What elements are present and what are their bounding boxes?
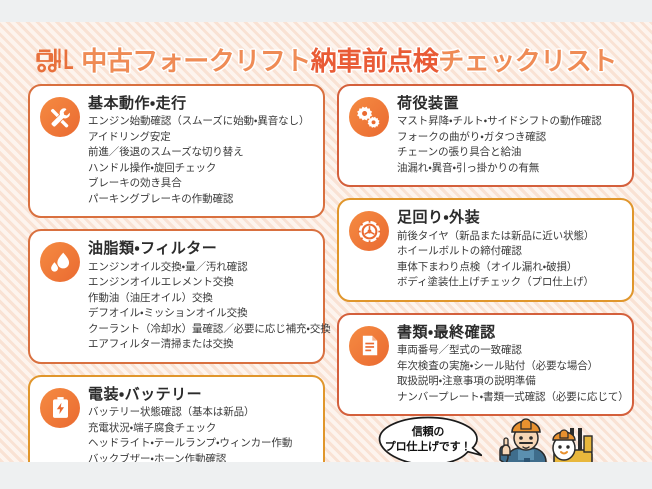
card-documents-final-check[interactable]: 書類・最終確認 車両番号／型式の一致確認 年次検査の実施・シール貼付（必要な場合… bbox=[337, 313, 634, 416]
list-item: バックブザー・ホーン作動確認 bbox=[88, 452, 313, 462]
gears-icon bbox=[349, 97, 389, 137]
title-text: 中古フォークリフト納車前点検チェックリスト bbox=[81, 48, 617, 74]
list-item: 作動油（油圧オイル）交換 bbox=[88, 291, 313, 307]
checklist: バッテリー状態確認（基本は新品） 充電状況・端子腐食チェック ヘッドライト・テー… bbox=[88, 405, 313, 462]
card-heading: 荷役装置 bbox=[397, 95, 622, 112]
list-item: チェーンの張り具合と給油 bbox=[397, 145, 622, 161]
list-item: バッテリー状態確認（基本は新品） bbox=[88, 405, 313, 421]
list-item: クーラント（冷却水）量確認／必要に応じ補充・交換 bbox=[88, 322, 313, 338]
list-item: 油漏れ・異音・引っ掛かりの有無 bbox=[397, 161, 622, 177]
card-body: 電装・バッテリー バッテリー状態確認（基本は新品） 充電状況・端子腐食チェック … bbox=[88, 386, 313, 462]
list-item: エンジンオイル交換・量／汚れ確認 bbox=[88, 260, 313, 276]
card-heading: 基本動作・走行 bbox=[88, 95, 313, 112]
card-body: 足回り・外装 前後タイヤ（新品または新品に近い状態） ホイールボルトの締付確認 … bbox=[397, 209, 622, 290]
card-basic-operation[interactable]: 基本動作・走行 エンジン始動確認（スムーズに始動・異音なし） アイドリング安定 … bbox=[28, 84, 325, 218]
list-item: アイドリング安定 bbox=[88, 130, 313, 146]
forklift-icon bbox=[35, 46, 73, 76]
list-item: ブレーキの効き具合 bbox=[88, 176, 313, 192]
tire-icon bbox=[349, 211, 389, 251]
worker-thumbs-up-with-forklift-icon bbox=[488, 414, 608, 462]
card-fluids-filters[interactable]: 油脂類・フィルター エンジンオイル交換・量／汚れ確認 エンジンオイルエレメント交… bbox=[28, 229, 325, 363]
list-item: ヘッドライト・テールランプ・ウィンカー作動 bbox=[88, 436, 313, 452]
list-item: 充電状況・端子腐食チェック bbox=[88, 421, 313, 437]
list-item: 車両番号／型式の一致確認 bbox=[397, 343, 622, 359]
footer-scene: 信頼の プロ仕上げです！ bbox=[378, 414, 628, 462]
card-load-handling[interactable]: 荷役装置 マスト昇降・チルト・サイドシフトの動作確認 フォークの曲がり・ガタつき… bbox=[337, 84, 634, 187]
card-body: 書類・最終確認 車両番号／型式の一致確認 年次検査の実施・シール貼付（必要な場合… bbox=[397, 324, 622, 405]
speech-bubble-text: 信頼の プロ仕上げです！ bbox=[378, 425, 478, 455]
title-part-strong: 納車前点検 bbox=[311, 46, 439, 76]
title-part-2: チェックリスト bbox=[438, 46, 617, 76]
document-icon bbox=[349, 326, 389, 366]
card-heading: 書類・最終確認 bbox=[397, 324, 622, 341]
right-column: 荷役装置 マスト昇降・チルト・サイドシフトの動作確認 フォークの曲がり・ガタつき… bbox=[337, 84, 634, 427]
card-body: 油脂類・フィルター エンジンオイル交換・量／汚れ確認 エンジンオイルエレメント交… bbox=[88, 240, 313, 352]
list-item: 前後タイヤ（新品または新品に近い状態） bbox=[397, 229, 622, 245]
card-electrical-battery[interactable]: 電装・バッテリー バッテリー状態確認（基本は新品） 充電状況・端子腐食チェック … bbox=[28, 375, 325, 462]
checklist: 車両番号／型式の一致確認 年次検査の実施・シール貼付（必要な場合） 取扱説明・注… bbox=[397, 343, 622, 405]
checklist: マスト昇降・チルト・サイドシフトの動作確認 フォークの曲がり・ガタつき確認 チェ… bbox=[397, 114, 622, 176]
list-item: 年次検査の実施・シール貼付（必要な場合） bbox=[397, 359, 622, 375]
card-undercarriage-body[interactable]: 足回り・外装 前後タイヤ（新品または新品に近い状態） ホイールボルトの締付確認 … bbox=[337, 198, 634, 301]
wrench-screwdriver-icon bbox=[40, 97, 80, 137]
list-item: パーキングブレーキの作動確認 bbox=[88, 192, 313, 208]
card-heading: 電装・バッテリー bbox=[88, 386, 313, 403]
checklist: エンジンオイル交換・量／汚れ確認 エンジンオイルエレメント交換 作動油（油圧オイ… bbox=[88, 260, 313, 353]
list-item: ハンドル操作・旋回チェック bbox=[88, 161, 313, 177]
list-item: エンジンオイルエレメント交換 bbox=[88, 275, 313, 291]
bubble-line-2: プロ仕上げです！ bbox=[378, 440, 478, 455]
speech-bubble: 信頼の プロ仕上げです！ bbox=[378, 416, 482, 462]
list-item: フォークの曲がり・ガタつき確認 bbox=[397, 130, 622, 146]
left-column: 基本動作・走行 エンジン始動確認（スムーズに始動・異音なし） アイドリング安定 … bbox=[28, 84, 325, 462]
list-item: 取扱説明・注意事項の説明準備 bbox=[397, 374, 622, 390]
list-item: エアフィルター清掃または交換 bbox=[88, 337, 313, 353]
list-item: 車体下まわり点検（オイル漏れ・破損） bbox=[397, 260, 622, 276]
page-title: 中古フォークリフト納車前点検チェックリスト bbox=[0, 40, 652, 82]
card-body: 荷役装置 マスト昇降・チルト・サイドシフトの動作確認 フォークの曲がり・ガタつき… bbox=[397, 95, 622, 176]
list-item: エンジン始動確認（スムーズに始動・異音なし） bbox=[88, 114, 313, 130]
battery-icon bbox=[40, 388, 80, 428]
list-item: ホイールボルトの締付確認 bbox=[397, 244, 622, 260]
title-part-1: 中古フォークリフト bbox=[81, 46, 311, 76]
bubble-line-1: 信頼の bbox=[378, 425, 478, 440]
list-item: 前進／後退のスムーズな切り替え bbox=[88, 145, 313, 161]
list-item: ナンバープレート・書類一式確認（必要に応じて） bbox=[397, 390, 622, 406]
oil-drop-icon bbox=[40, 242, 80, 282]
list-item: デフオイル・ミッションオイル交換 bbox=[88, 306, 313, 322]
list-item: ボディ塗装仕上げチェック（プロ仕上げ） bbox=[397, 275, 622, 291]
list-item: マスト昇降・チルト・サイドシフトの動作確認 bbox=[397, 114, 622, 130]
poster-canvas: 中古フォークリフト納車前点検チェックリスト 基本動作・走行 エンジン始動確認（ス… bbox=[0, 22, 652, 462]
checklist: 前後タイヤ（新品または新品に近い状態） ホイールボルトの締付確認 車体下まわり点… bbox=[397, 229, 622, 291]
card-body: 基本動作・走行 エンジン始動確認（スムーズに始動・異音なし） アイドリング安定 … bbox=[88, 95, 313, 207]
checklist: エンジン始動確認（スムーズに始動・異音なし） アイドリング安定 前進／後退のスム… bbox=[88, 114, 313, 207]
card-heading: 足回り・外装 bbox=[397, 209, 622, 226]
card-heading: 油脂類・フィルター bbox=[88, 240, 313, 257]
